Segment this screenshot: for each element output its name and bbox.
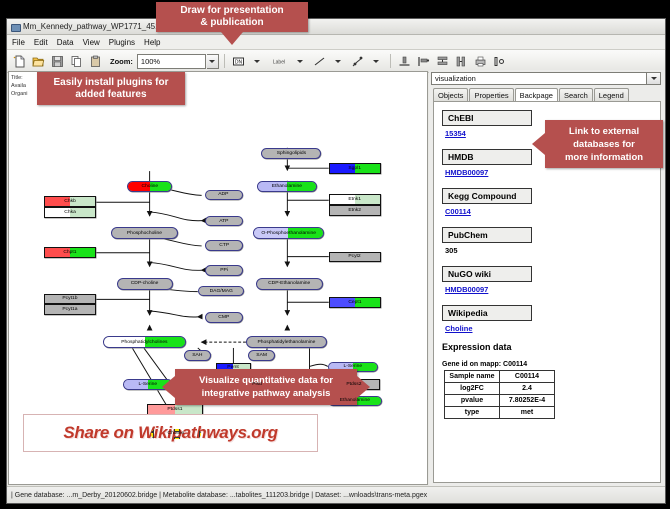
side-panel-tabs: Objects Properties Backpage Search Legen…: [429, 87, 665, 101]
gene-node-chkb[interactable]: Chkb: [44, 196, 96, 207]
metabolite-node-sam[interactable]: SAM: [248, 350, 275, 361]
hmdb-header: HMDB: [442, 149, 532, 165]
gene-node-chpt1[interactable]: Chpt1: [44, 247, 96, 258]
draw-callout-line1: Draw for presentation: [180, 5, 283, 17]
node-label: Sphingolipids: [277, 151, 306, 156]
node-label: Pcyt1b: [62, 296, 77, 301]
metabolite-node-ctp[interactable]: CTP: [205, 240, 244, 251]
expr-val-type: met: [500, 407, 555, 419]
distribute-horizontal-icon[interactable]: [453, 53, 470, 70]
gene-node-pcyt1a[interactable]: Pcyt1a: [44, 304, 96, 315]
node-label: Etnk1: [348, 197, 361, 202]
gene-node-etnk1[interactable]: Etnk1: [329, 194, 381, 205]
datanode-dropdown-arrow[interactable]: [249, 53, 266, 70]
tab-search[interactable]: Search: [559, 88, 593, 101]
visualization-dropdown-arrow[interactable]: [647, 72, 661, 85]
links-callout-line1: Link to external: [565, 125, 643, 138]
node-label: PPi: [220, 268, 228, 273]
menu-bar: File Edit Data View Plugins Help: [7, 35, 665, 50]
metabolite-node-adp[interactable]: ADP: [205, 190, 244, 201]
menu-item-plugins[interactable]: Plugins: [109, 38, 135, 47]
node-label: Phosphatidylcholines: [122, 340, 168, 345]
copy-icon[interactable]: [68, 53, 85, 70]
gene-node-cept1[interactable]: Cept1: [329, 297, 381, 308]
tab-properties[interactable]: Properties: [469, 88, 513, 101]
gene-node-etnk2[interactable]: Etnk2: [329, 205, 381, 216]
metabolite-node-cdp-choline[interactable]: CDP-choline: [117, 278, 173, 290]
screenshot-root: Mm_Kennedy_pathway_WP1771_45176.gpml Fil…: [0, 0, 670, 509]
expr-val-sample-name: C00114: [500, 371, 555, 383]
wikipedia-header: Wikipedia: [442, 305, 532, 321]
node-label: SAM: [256, 353, 267, 358]
metabolite-node-phosphatidylcholines[interactable]: Phosphatidylcholines: [103, 336, 186, 348]
paste-icon[interactable]: [87, 53, 104, 70]
anchor-dropdown-arrow[interactable]: [368, 53, 385, 70]
zoom-value[interactable]: 100%: [137, 54, 206, 69]
zoom-dropdown-arrow[interactable]: [207, 54, 219, 69]
gene-node-pcyt1b[interactable]: Pcyt1b: [44, 294, 96, 305]
toolbar-separator: [224, 54, 225, 68]
node-label: Pcyt2: [349, 255, 361, 260]
visualize-callout-line1: Visualize quantitative data for: [199, 374, 333, 387]
node-label: Pcyt1a: [62, 307, 77, 312]
metabolite-node-phosphatidylethanolamine[interactable]: Phosphatidylethanolamine: [246, 336, 327, 348]
label-dropdown-arrow[interactable]: [292, 53, 309, 70]
visualization-combo[interactable]: visualization: [431, 72, 661, 85]
expr-val-pvalue: 7.80252E-4: [500, 395, 555, 407]
label-tool-icon[interactable]: Label: [268, 53, 290, 70]
node-label: CTP: [219, 243, 229, 248]
node-label: SAH: [193, 353, 203, 358]
svg-text:Label: Label: [273, 60, 285, 66]
node-label: Ethanolamine: [272, 184, 302, 189]
menu-item-view[interactable]: View: [83, 38, 100, 47]
node-label: O-Phosphoethanolamine: [261, 231, 316, 236]
expr-val-log2fc: 2.4: [500, 383, 555, 395]
canvas-side-labels: Title: Availa Organi: [11, 74, 28, 98]
hmdb-link[interactable]: HMDB00097: [445, 168, 660, 177]
table-row: pvalue 7.80252E-4: [445, 395, 555, 407]
metabolite-node-phosphocholine[interactable]: Phosphocholine: [111, 227, 178, 239]
gene-node-sgpl1[interactable]: Sgpl1: [329, 163, 381, 174]
app-icon: [10, 22, 20, 32]
anchor-line-icon[interactable]: [349, 53, 366, 70]
chebi-header: ChEBI: [442, 110, 532, 126]
node-label: Chpt1: [63, 250, 76, 255]
menu-item-help[interactable]: Help: [144, 38, 160, 47]
metabolite-node-atp[interactable]: ATP: [205, 216, 244, 227]
table-row: log2FC 2.4: [445, 383, 555, 395]
links-callout-line2: databases for: [565, 138, 643, 151]
expression-table: Sample name C00114 log2FC 2.4 pvalue 7.8…: [444, 370, 555, 419]
node-label: DAG/MAG: [209, 289, 232, 294]
links-callout-arrow: [532, 133, 545, 155]
pathvisio-window: Mm_Kennedy_pathway_WP1771_45176.gpml Fil…: [6, 18, 666, 504]
tab-legend[interactable]: Legend: [594, 88, 629, 101]
nugo-wiki-header: NuGO wiki: [442, 266, 532, 282]
svg-text:DN: DN: [235, 59, 243, 65]
line-dropdown-arrow[interactable]: [330, 53, 347, 70]
status-text: | Gene database: ...m_Derby_20120602.bri…: [11, 492, 427, 499]
node-label: ATP: [219, 219, 228, 224]
canvas-label-title: Title:: [11, 74, 28, 82]
pubchem-value: 305: [445, 246, 660, 255]
draw-callout-arrow: [221, 32, 243, 45]
metabolite-node-ethanolamine-1[interactable]: Ethanolamine: [257, 181, 317, 193]
node-label: ADP: [219, 192, 229, 197]
node-label: L-Serine: [344, 364, 363, 369]
node-label: Etnk2: [348, 208, 361, 213]
nugo-wiki-link[interactable]: HMDB00097: [445, 285, 660, 294]
selection-handle[interactable]: [174, 428, 180, 433]
links-callout-line3: more information: [565, 151, 643, 164]
tab-backpage[interactable]: Backpage: [515, 88, 558, 102]
menu-item-file[interactable]: File: [12, 38, 25, 47]
node-label: Cept1: [348, 300, 361, 305]
metabolite-node-choline-top[interactable]: Choline: [127, 181, 171, 193]
metabolite-node-sphingolipids[interactable]: Sphingolipids: [261, 148, 321, 160]
expr-key-log2fc: log2FC: [445, 383, 500, 395]
node-label: Ethanolamine: [340, 398, 370, 403]
node-label: L-Serine: [138, 382, 157, 387]
zoom-label: Zoom:: [110, 57, 133, 66]
plugins-callout-line1: Easily install plugins for: [53, 77, 168, 89]
metabolite-node-ppi[interactable]: PPi: [205, 265, 244, 276]
metabolite-node-dagmag[interactable]: DAG/MAG: [198, 286, 244, 297]
status-bar: | Gene database: ...m_Derby_20120602.bri…: [7, 486, 665, 503]
zoom-combo[interactable]: 100%: [137, 54, 219, 69]
metabolite-node-cmp[interactable]: CMP: [205, 312, 244, 323]
metabolite-node-sah[interactable]: SAH: [184, 350, 211, 361]
align-left-icon[interactable]: [415, 53, 432, 70]
tab-objects[interactable]: Objects: [433, 88, 468, 101]
kegg-compound-link[interactable]: C00114: [445, 207, 660, 216]
node-label: Phosphatidylethanolamine: [257, 340, 315, 345]
plugins-callout-line2: added features: [53, 89, 168, 101]
datanode-icon[interactable]: DN: [230, 53, 247, 70]
node-label: Choline: [141, 184, 158, 189]
node-label: CDP-choline: [131, 281, 159, 286]
expr-key-type: type: [445, 407, 500, 419]
visualize-callout-line2: integrative pathway analysis: [199, 387, 333, 400]
group-icon[interactable]: [491, 53, 508, 70]
save-icon[interactable]: [49, 53, 66, 70]
links-callout: Link to external databases for more info…: [545, 120, 663, 168]
plugins-callout: Easily install plugins for added feature…: [37, 72, 185, 105]
visualize-callout: Visualize quantitative data for integrat…: [175, 369, 357, 405]
distribute-vertical-icon[interactable]: [434, 53, 451, 70]
visualize-callout-arrow-left: [162, 376, 175, 398]
node-label: Chkb: [64, 199, 76, 204]
gene-node-chka[interactable]: Chka: [44, 207, 96, 218]
expr-key-sample-name: Sample name: [445, 371, 500, 383]
expression-data-heading: Expression data: [442, 342, 660, 352]
node-label: Pisd: [253, 382, 263, 387]
draw-callout-line2: & publication: [180, 17, 283, 29]
align-bottom-icon[interactable]: [396, 53, 413, 70]
visualization-value[interactable]: visualization: [431, 72, 647, 85]
menu-item-data[interactable]: Data: [57, 38, 74, 47]
menu-item-edit[interactable]: Edit: [34, 38, 48, 47]
line-tool-icon[interactable]: [311, 53, 328, 70]
metabolite-node-cdp-ethanolamine[interactable]: CDP-Ethanolamine: [256, 278, 323, 290]
node-label: CMP: [218, 315, 229, 320]
gene-id-line: Gene id on mapp: C00114: [442, 361, 660, 368]
print-icon[interactable]: [472, 53, 489, 70]
canvas-label-available: Availa: [11, 82, 28, 90]
node-label: CDP-Ethanolamine: [268, 281, 310, 286]
node-label: Phosphocholine: [127, 231, 162, 236]
wikipedia-link[interactable]: Choline: [445, 324, 660, 333]
window-titlebar: Mm_Kennedy_pathway_WP1771_45176.gpml: [7, 19, 665, 35]
node-label: Sgpl1: [348, 166, 361, 171]
table-row: type met: [445, 407, 555, 419]
new-file-icon[interactable]: [11, 53, 28, 70]
plugins-callout-arrow: [99, 71, 121, 72]
toolbar-separator-2: [390, 54, 391, 68]
kegg-compound-header: Kegg Compound: [442, 188, 532, 204]
table-row: Sample name C00114: [445, 371, 555, 383]
node-label: Ptdss1: [167, 407, 182, 412]
pubchem-header: PubChem: [442, 227, 532, 243]
gene-node-pcyt2[interactable]: Pcyt2: [329, 252, 381, 263]
pathway-canvas[interactable]: Title: Availa Organi: [8, 71, 428, 485]
node-label: Pemt: [228, 365, 240, 370]
node-label: Chka: [64, 210, 76, 215]
node-label: Ptdss2: [346, 382, 361, 387]
canvas-label-organism: Organi: [11, 90, 28, 98]
expr-key-pvalue: pvalue: [445, 395, 500, 407]
draw-callout: Draw for presentation & publication: [156, 2, 308, 32]
metabolite-node-o-phosphoethanolamine[interactable]: O-Phosphoethanolamine: [253, 227, 324, 239]
open-folder-icon[interactable]: [30, 53, 47, 70]
